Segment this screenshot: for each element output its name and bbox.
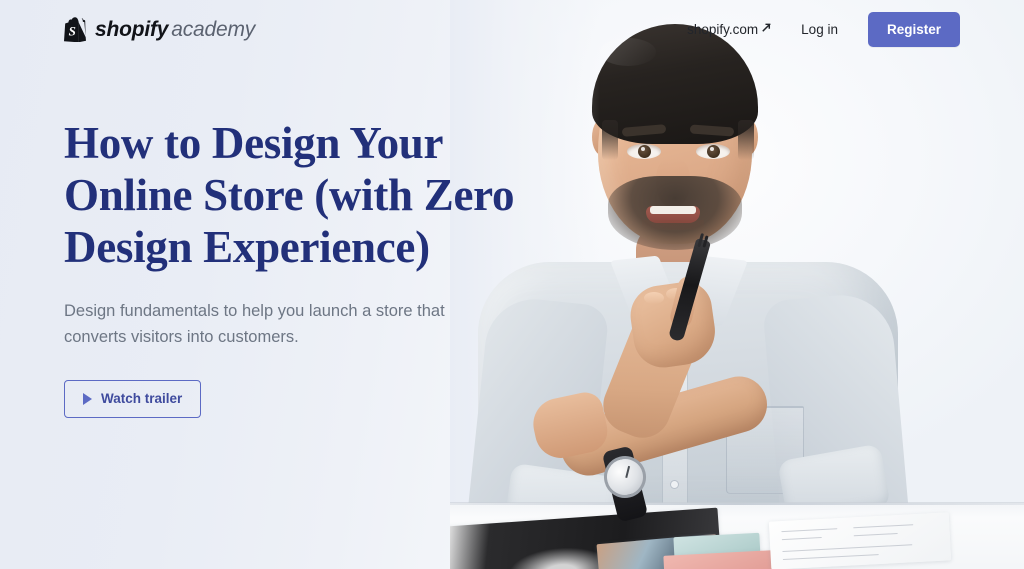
- nav-link-log-in-label: Log in: [801, 22, 838, 37]
- register-button[interactable]: Register: [868, 12, 960, 47]
- headline-line-2: Online Store (with Zero: [64, 170, 514, 220]
- headline-line-1: How to Design Your: [64, 118, 443, 168]
- desk-surface: [450, 503, 1024, 569]
- hero-photo: [450, 0, 1024, 569]
- external-link-arrow-icon: [762, 23, 771, 35]
- page-title: How to Design Your Online Store (with Ze…: [64, 118, 534, 274]
- desk-edge: [450, 503, 1024, 505]
- brand-name-academy: academy: [171, 18, 255, 41]
- nav-link-log-in[interactable]: Log in: [801, 22, 838, 37]
- chin-shadow: [642, 220, 704, 230]
- brand-name: shopifyacademy: [95, 19, 255, 40]
- sideburn-right: [738, 120, 754, 160]
- hero-content: How to Design Your Online Store (with Ze…: [64, 118, 534, 418]
- nav-link-shopify-com-label: shopify.com: [687, 22, 758, 37]
- hero-page: S shopifyacademy shopify.com Log in Regi…: [0, 0, 1024, 569]
- shirt-button: [670, 480, 679, 489]
- page-subtitle: Design fundamentals to help you launch a…: [64, 298, 476, 350]
- site-header: S shopifyacademy shopify.com Log in Regi…: [0, 0, 1024, 58]
- eye-right: [696, 144, 730, 159]
- watch-trailer-button[interactable]: Watch trailer: [64, 380, 201, 418]
- sideburn-left: [602, 120, 618, 160]
- brand-logo[interactable]: S shopifyacademy: [64, 16, 255, 42]
- knuckle: [644, 292, 664, 304]
- nav-link-shopify-com[interactable]: shopify.com: [687, 22, 771, 37]
- watch-trailer-label: Watch trailer: [101, 392, 182, 406]
- shopify-bag-icon: S: [64, 16, 87, 42]
- svg-text:S: S: [69, 23, 76, 38]
- play-triangle-icon: [83, 393, 92, 405]
- sketch-sheet: [769, 512, 951, 569]
- eye-left: [627, 144, 661, 159]
- main-nav: shopify.com Log in Register: [687, 12, 960, 47]
- headline-line-3: Design Experience): [64, 222, 430, 272]
- brand-name-shopify: shopify: [95, 18, 168, 41]
